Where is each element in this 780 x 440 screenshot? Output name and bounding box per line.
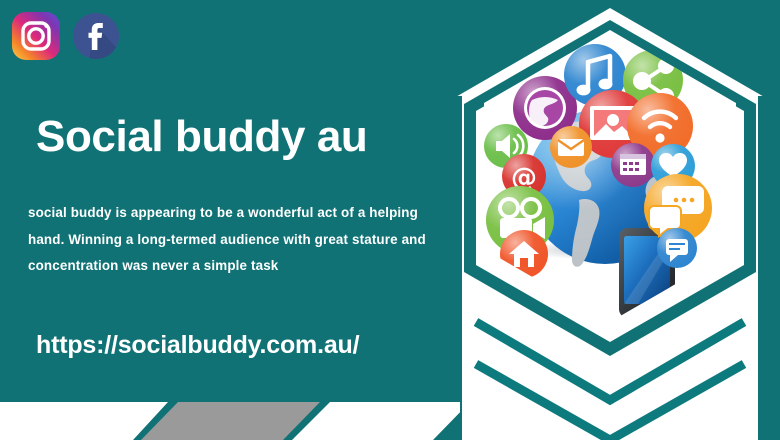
envelope-icon-bubble	[550, 126, 592, 168]
facebook-icon	[69, 9, 123, 63]
hex-left-teal-fill	[440, 96, 462, 440]
ribbon-white-left	[0, 402, 168, 440]
page-title: Social buddy au	[36, 114, 367, 160]
website-url[interactable]: https://socialbuddy.com.au/	[36, 331, 359, 360]
hexagon-graphic: @	[440, 0, 780, 440]
calendar-icon-bubble	[611, 143, 655, 187]
instagram-badge[interactable]	[9, 9, 63, 63]
poster-canvas: Social buddy au social buddy is appearin…	[0, 0, 780, 440]
instagram-icon	[9, 9, 63, 63]
hex-right-teal-fill	[758, 96, 780, 440]
ribbon-white-right	[292, 402, 460, 440]
decorative-ribbons	[0, 392, 460, 440]
body-paragraph: social buddy is appearing to be a wonder…	[28, 200, 428, 280]
social-badges	[9, 9, 123, 63]
small-chat-icon-bubble	[657, 228, 697, 268]
ribbon-gray-middle	[141, 402, 320, 440]
facebook-badge[interactable]	[69, 9, 123, 63]
